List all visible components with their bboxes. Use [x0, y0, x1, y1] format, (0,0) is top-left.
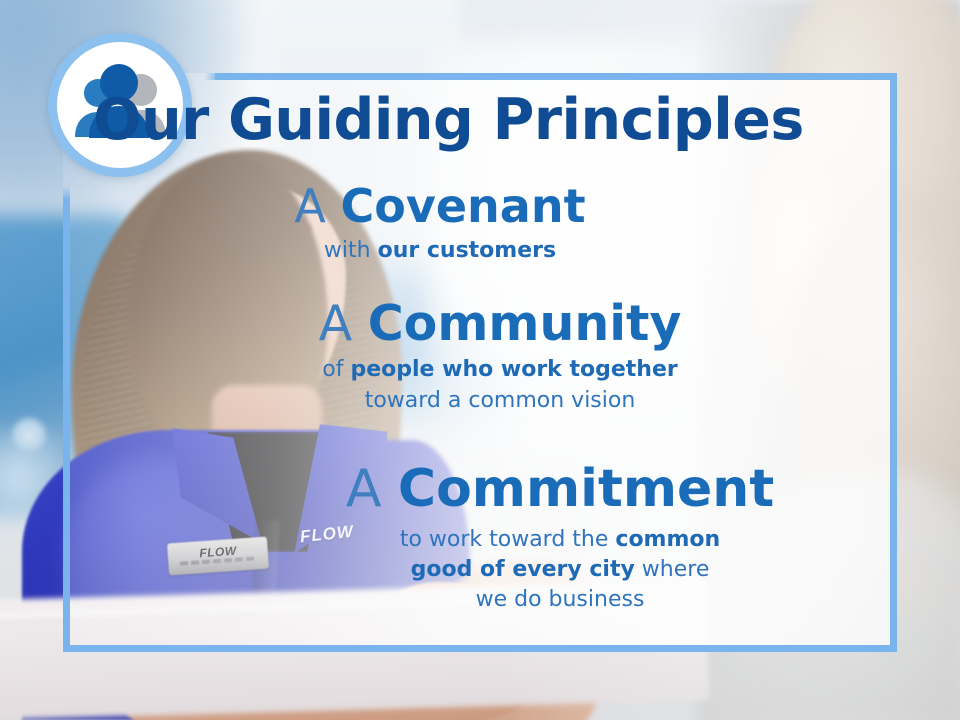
principle-commitment: A Commitment to work toward the commongo… [130, 462, 960, 616]
plain-text: toward a common vision [365, 388, 636, 413]
description-line: we do business [130, 585, 960, 615]
plain-text: to work toward the [400, 527, 616, 552]
principle-heading: A Community [70, 298, 930, 349]
description-line: with our customers [10, 236, 870, 266]
emphasis-text: common [615, 527, 720, 552]
description-line: of people who work together [70, 355, 930, 385]
principle-community: A Community of people who work togethert… [70, 298, 930, 416]
principle-keyword: Commitment [398, 459, 774, 519]
page-title: Our Guiding Principles [0, 92, 897, 149]
emphasis-text: good of every city [411, 557, 635, 582]
emphasis-text: people who work together [350, 357, 677, 382]
principle-article: A [346, 459, 382, 519]
description-line: good of every city where [130, 555, 960, 585]
banner-stage: FLOW FLOW Our Guiding Principles [0, 0, 960, 720]
description-line: toward a common vision [70, 386, 930, 416]
plain-text: with [324, 238, 378, 263]
principle-heading: A Commitment [130, 462, 960, 517]
plain-text: of [322, 357, 350, 382]
description-line: to work toward the common [130, 525, 960, 555]
principle-description: with our customers [10, 236, 870, 266]
principle-keyword: Covenant [341, 179, 586, 233]
principle-description: of people who work togethertoward a comm… [70, 355, 930, 416]
principle-article: A [319, 295, 353, 352]
principle-covenant: A Covenant with our customers [10, 182, 870, 267]
principle-keyword: Community [368, 295, 682, 352]
principle-article: A [294, 179, 325, 233]
plain-text: where [635, 557, 710, 582]
principle-description: to work toward the commongood of every c… [130, 525, 960, 616]
emphasis-text: our customers [378, 238, 557, 263]
plain-text: we do business [476, 587, 645, 612]
principle-heading: A Covenant [10, 182, 870, 230]
